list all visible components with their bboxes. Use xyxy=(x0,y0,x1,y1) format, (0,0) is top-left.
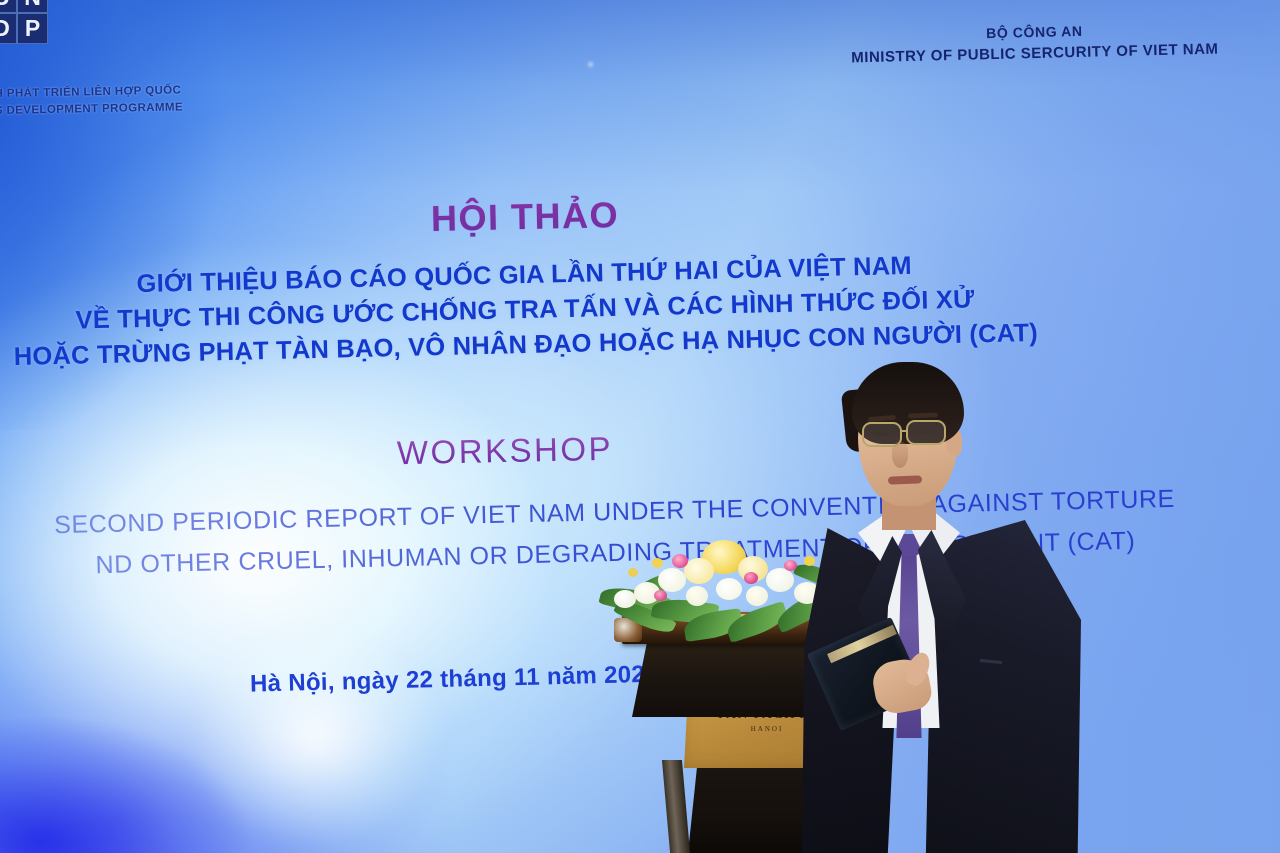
undp-letter-d: D xyxy=(0,13,17,44)
lectern-leg xyxy=(662,760,690,853)
eyeglasses-bridge xyxy=(901,430,908,432)
speaker-person xyxy=(796,360,1086,853)
eyeglasses-lens-right xyxy=(906,420,946,445)
eyebrow-right xyxy=(908,412,938,418)
mouth xyxy=(888,475,922,484)
dust-speck xyxy=(588,62,593,67)
undp-letter-u: U xyxy=(0,0,17,13)
projector-glare xyxy=(150,600,480,853)
photo-scene: U N D P NH PHÁT TRIỂN LIÊN HỢP QUỐC NS D… xyxy=(0,0,1280,853)
nose xyxy=(892,442,908,468)
undp-letter-p: P xyxy=(17,13,48,44)
undp-wordmark: NH PHÁT TRIỂN LIÊN HỢP QUỐC NS DEVELOPME… xyxy=(0,82,216,120)
undp-letter-n: N xyxy=(17,0,48,13)
undp-logo: U N D P xyxy=(0,0,54,44)
